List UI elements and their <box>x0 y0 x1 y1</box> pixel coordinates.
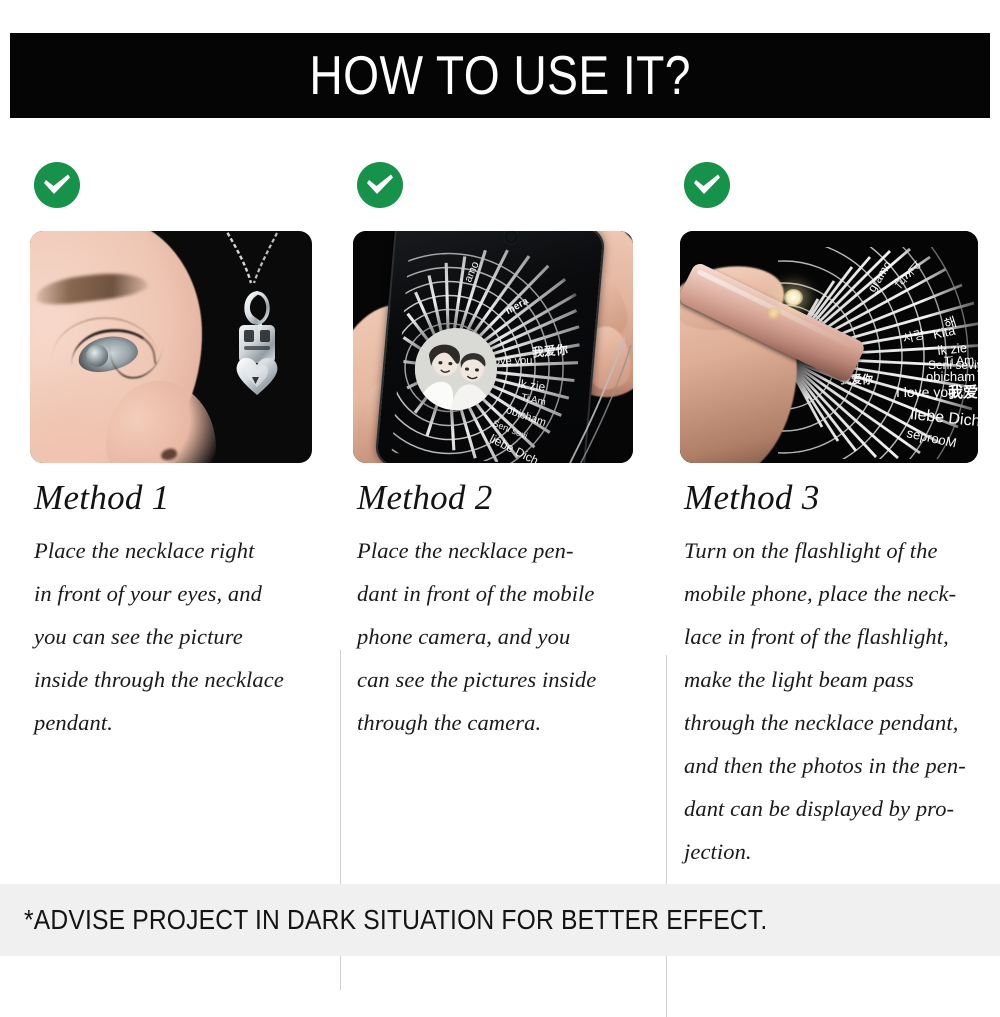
body-line: through the camera. <box>357 701 638 744</box>
flashlight-glow-icon <box>766 307 781 320</box>
method-2-photo: I love you 我爱你 obicham ik zie Ti Am lieb… <box>353 231 633 463</box>
method-2-title: Method 2 <box>357 480 638 517</box>
body-line: dant in front of the mobile <box>357 572 638 615</box>
body-line: Place the necklace pen- <box>357 529 638 572</box>
body-line: inside through the necklace <box>34 658 320 701</box>
body-line: Place the necklace right <box>34 529 320 572</box>
body-line: can see the pictures inside <box>357 658 638 701</box>
method-column-2: I love you 我爱你 obicham ik zie Ti Am lieb… <box>353 150 638 744</box>
method-column-1: Method 1 Place the necklace right in fro… <box>30 150 320 744</box>
advisory-note: *ADVISE PROJECT IN DARK SITUATION FOR BE… <box>24 904 767 936</box>
flashlight-icon <box>784 289 803 306</box>
method-1-body: Place the necklace right in front of you… <box>34 529 320 744</box>
check-circle-icon <box>684 162 730 208</box>
method-column-3: I love you 我爱你 我爱你 obicham Seni seviyoru… <box>680 150 980 873</box>
method-1-title: Method 1 <box>34 480 320 517</box>
body-line: make the light beam pass <box>684 658 980 701</box>
body-line: pendant. <box>34 701 320 744</box>
method-3-title: Method 3 <box>684 480 980 517</box>
body-line: lace in front of the flashlight, <box>684 615 980 658</box>
svg-text:我爱你: 我爱你 <box>948 383 978 401</box>
page-title: HOW TO USE IT? <box>309 48 691 103</box>
body-line: through the necklace pendant, <box>684 701 980 744</box>
column-divider <box>666 655 667 1017</box>
promo-page: HOW TO USE IT? <box>0 0 1000 1000</box>
footer-band: *ADVISE PROJECT IN DARK SITUATION FOR BE… <box>0 884 1000 956</box>
projection-pendant-icon <box>226 291 288 401</box>
svg-text:Ti Am: Ti Am <box>944 353 975 368</box>
method-3-body: Turn on the flashlight of the mobile pho… <box>684 529 980 873</box>
front-camera-icon <box>504 231 518 244</box>
body-line: and then the photos in the pen- <box>684 744 980 787</box>
body-line: in front of your eyes, and <box>34 572 320 615</box>
svg-text:I love you: I love you <box>896 384 956 400</box>
body-line: Turn on the flashlight of the <box>684 529 980 572</box>
check-circle-icon <box>357 162 403 208</box>
body-line: mobile phone, place the neck- <box>684 572 980 615</box>
body-line: jection. <box>684 830 980 873</box>
hanging-chain-icon <box>539 335 633 463</box>
method-1-photo <box>30 231 312 463</box>
methods-row: Method 1 Place the necklace right in fro… <box>0 150 1000 890</box>
body-line: phone camera, and you <box>357 615 638 658</box>
body-line: dant can be displayed by pro- <box>684 787 980 830</box>
method-3-photo: I love you 我爱你 我爱你 obicham Seni seviyoru… <box>680 231 978 463</box>
method-2-body: Place the necklace pen- dant in front of… <box>357 529 638 744</box>
check-circle-icon <box>34 162 80 208</box>
header-banner: HOW TO USE IT? <box>10 33 990 118</box>
body-line: you can see the picture <box>34 615 320 658</box>
